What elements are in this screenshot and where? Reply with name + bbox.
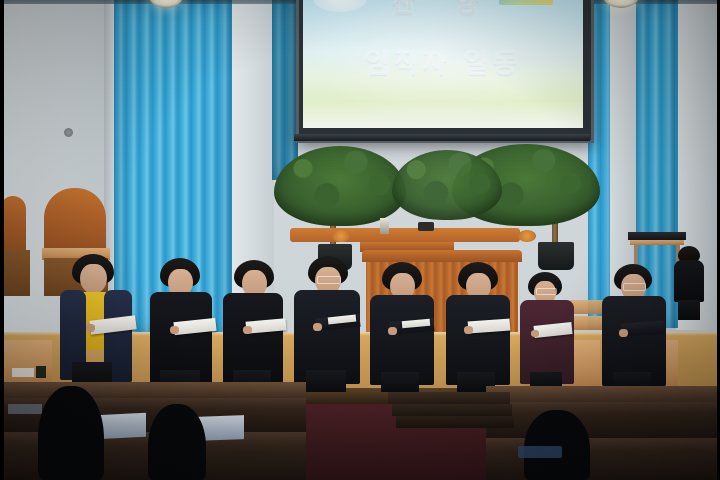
singer-4-hand <box>313 323 322 331</box>
singer-2-hand <box>170 326 179 334</box>
singer-3 <box>220 260 290 388</box>
singer-6 <box>444 262 516 392</box>
platform-cabinet-left <box>0 340 52 388</box>
singer-7-glasses-icon <box>536 288 557 295</box>
singer-5-hand <box>388 327 397 335</box>
singer-6-hand <box>464 326 473 334</box>
singer-3-hand <box>243 326 252 334</box>
singer-4-legs <box>306 370 346 392</box>
projector-screen-surface: 찬 양 임직자 일동 <box>303 0 583 128</box>
attendee-2 <box>148 404 206 480</box>
front-step-3 <box>396 416 514 428</box>
ficus-right-pot <box>538 242 574 270</box>
pulpit-cap <box>362 250 522 262</box>
singer-7-hand <box>531 330 539 337</box>
singer-4-glasses-icon <box>317 276 341 284</box>
singer-5-legs <box>381 372 419 392</box>
chancel-chair-edge-base <box>0 250 30 296</box>
singer-1 <box>54 254 134 390</box>
letterbox-left <box>0 0 4 480</box>
front-step-2 <box>392 404 512 416</box>
slide-subtitle: 임직자 일동 <box>303 42 583 81</box>
usher-coat <box>674 260 704 302</box>
attendee-3 <box>524 410 590 480</box>
curtain-center-left <box>272 0 298 180</box>
projector-screen-bottom-bar <box>294 134 590 141</box>
table-knob-left <box>332 230 350 242</box>
church-service-video-frame: 찬 양 임직자 일동 <box>0 0 720 480</box>
singer-2 <box>146 258 218 390</box>
platform-item-bottle <box>36 366 46 378</box>
table-knob-right <box>518 230 536 242</box>
singer-5 <box>368 262 440 392</box>
platform-item-paper <box>12 368 34 377</box>
pew-front-right <box>486 438 720 480</box>
slide-title: 찬 양 <box>303 0 583 20</box>
communion-plate-icon <box>418 222 434 231</box>
front-step-1 <box>388 392 510 404</box>
av-table-equipment <box>628 232 686 240</box>
communion-table-top <box>290 228 520 242</box>
pew-item-bulletin <box>8 404 42 414</box>
wall-speaker-icon <box>64 128 73 137</box>
singer-7 <box>518 272 580 390</box>
projector-screen: 찬 양 임직자 일동 <box>296 0 594 143</box>
attendee-1 <box>38 386 104 480</box>
attendee-3-collar <box>518 446 562 458</box>
usher-legs <box>678 300 700 320</box>
singer-8-hand <box>619 329 628 337</box>
chancel-chair-left-back <box>44 188 106 248</box>
communion-cup-icon <box>380 218 389 234</box>
singer-8 <box>600 264 670 392</box>
singer-1-face <box>80 264 107 294</box>
singer-4 <box>292 256 368 392</box>
singer-1-hand <box>86 324 95 332</box>
pew-back-right <box>486 402 720 440</box>
singer-8-glasses-icon <box>623 283 646 291</box>
usher-back-right <box>672 246 708 320</box>
